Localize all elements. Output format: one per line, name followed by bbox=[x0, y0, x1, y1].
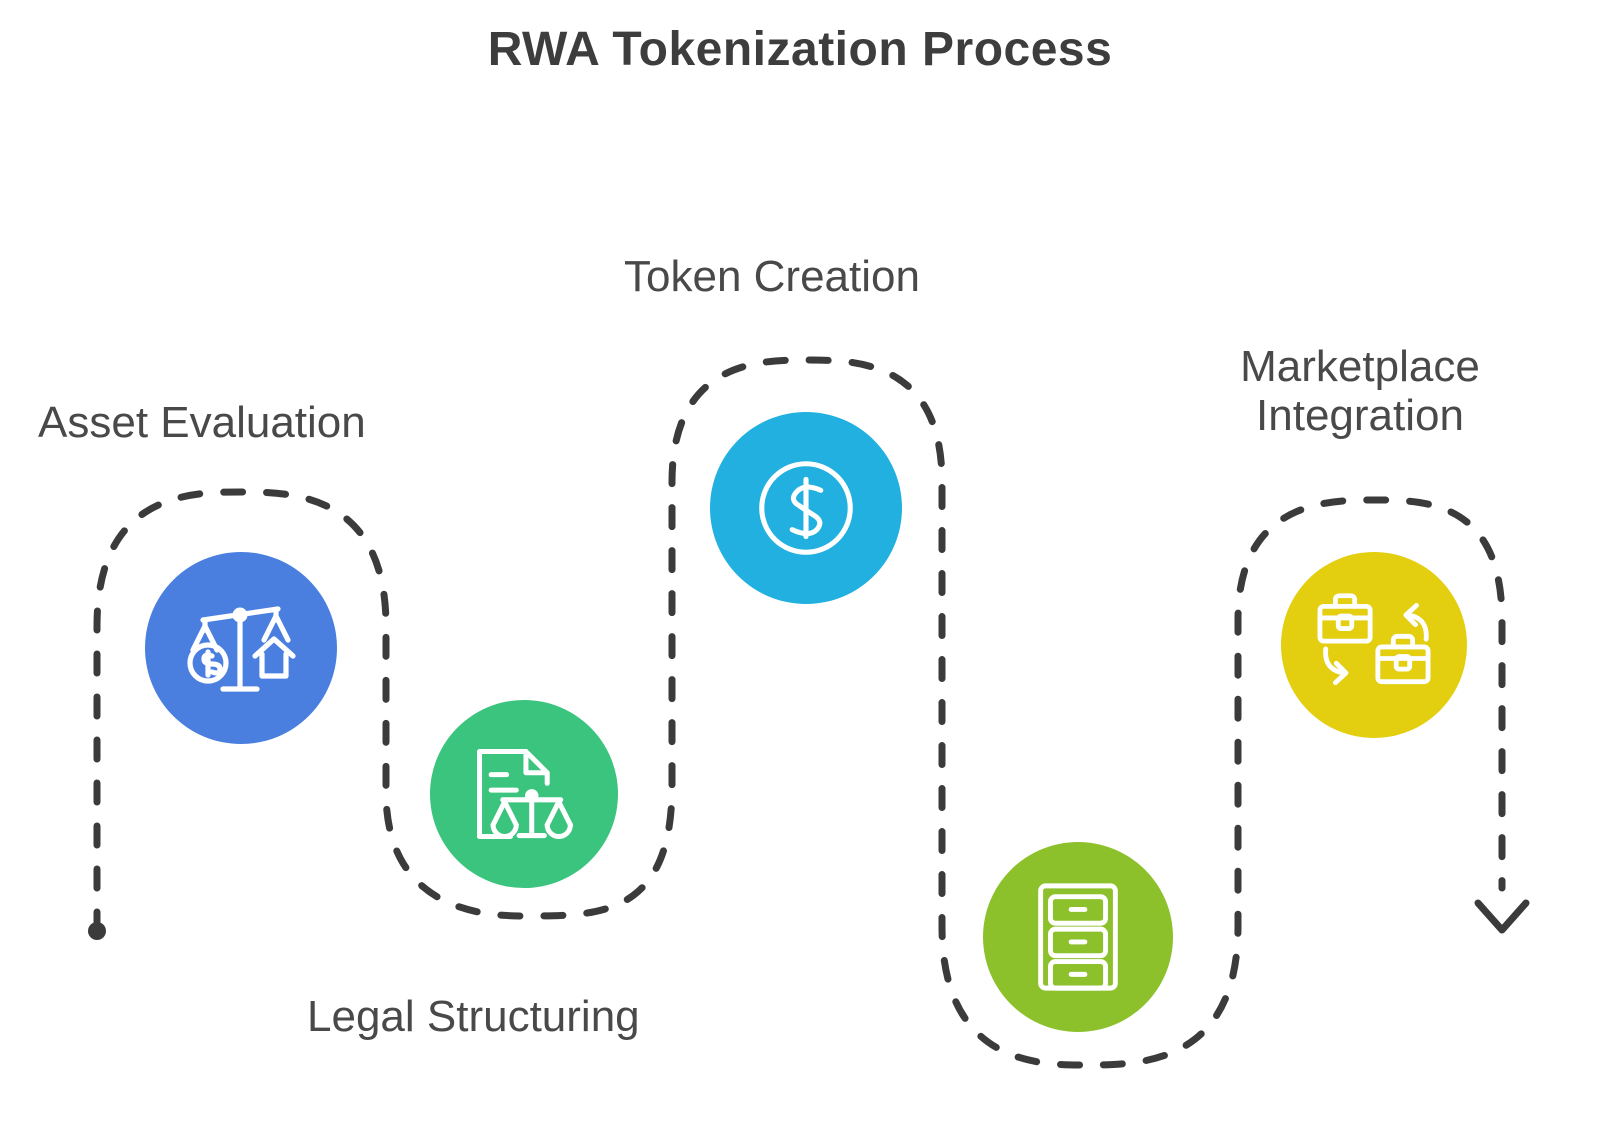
step-node-token-creation[interactable] bbox=[710, 412, 902, 604]
document-justice-scale-icon bbox=[466, 736, 582, 852]
dollar-coin-icon bbox=[747, 449, 865, 567]
step-label-token-creation: Token Creation bbox=[624, 252, 920, 301]
step-node-marketplace-integration[interactable] bbox=[1281, 552, 1467, 738]
scale-balance-money-house-icon bbox=[181, 588, 301, 708]
diagram-canvas: RWA Tokenization Process Asset Evaluatio… bbox=[0, 0, 1600, 1126]
step-label-marketplace-integration: Marketplace Integration bbox=[1210, 342, 1510, 441]
step-label-legal-structuring: Legal Structuring bbox=[307, 992, 640, 1041]
step-label-asset-evaluation: Asset Evaluation bbox=[38, 398, 366, 447]
step-node-asset-evaluation[interactable] bbox=[145, 552, 337, 744]
briefcase-exchange-icon bbox=[1314, 589, 1434, 701]
step-node-legal-structuring[interactable] bbox=[430, 700, 618, 888]
filing-cabinet-icon bbox=[1028, 878, 1128, 996]
arrow-down-icon bbox=[1478, 903, 1526, 930]
step-node-custody-records[interactable] bbox=[983, 842, 1173, 1032]
